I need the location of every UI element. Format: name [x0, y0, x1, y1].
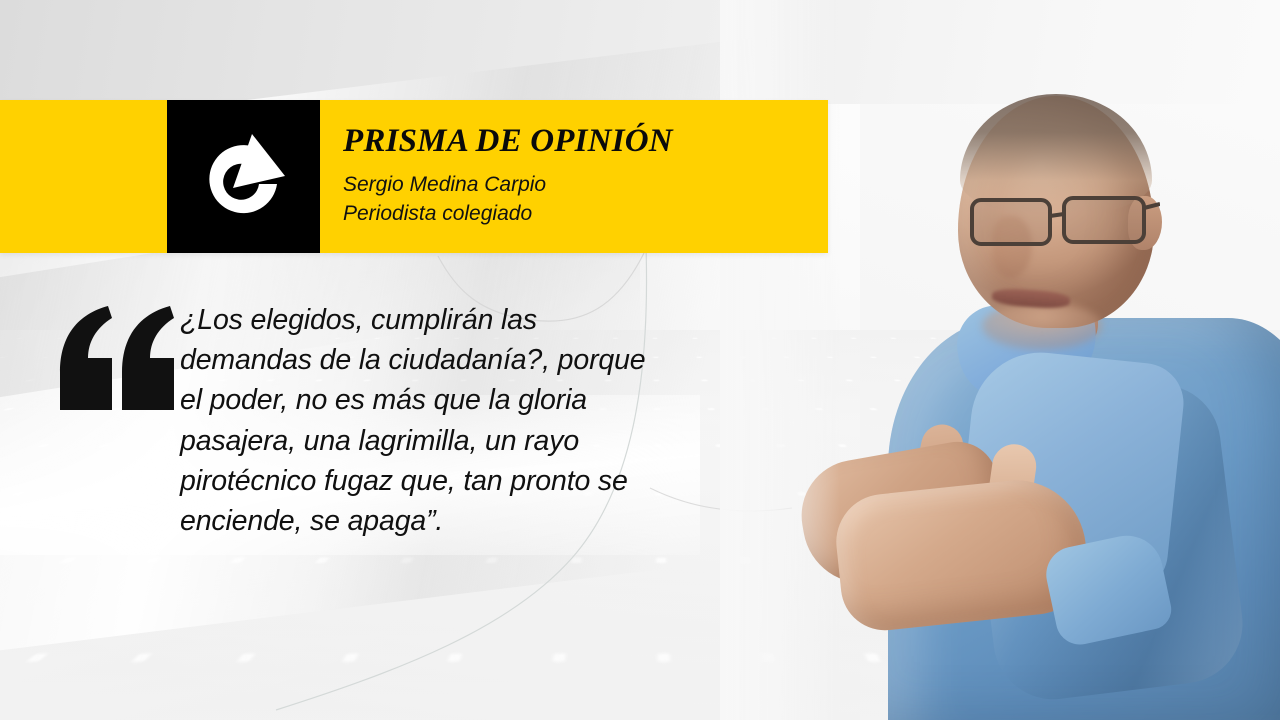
- portrait-chin: [982, 302, 1102, 350]
- page-title: PRISMA DE OPINIÓN: [343, 125, 828, 158]
- header-banner: PRISMA DE OPINIÓN Sergio Medina Carpio P…: [0, 100, 828, 253]
- opinion-column-graphic: PRISMA DE OPINIÓN Sergio Medina Carpio P…: [0, 0, 1280, 720]
- banner-left-spacer: [0, 100, 167, 253]
- circular-arrow-prism-logo-icon: [189, 122, 299, 232]
- logo-container: [167, 100, 320, 253]
- glasses-icon: [968, 190, 1160, 252]
- quote-text: ¿Los elegidos, cumplirán las demandas de…: [180, 300, 686, 541]
- open-quote-icon: [56, 306, 178, 410]
- author-name: Sergio Medina Carpio: [343, 171, 828, 199]
- author-role: Periodista colegiado: [343, 200, 828, 228]
- banner-text-block: PRISMA DE OPINIÓN Sergio Medina Carpio P…: [320, 100, 828, 253]
- quote-block: ¿Los elegidos, cumplirán las demandas de…: [56, 300, 736, 541]
